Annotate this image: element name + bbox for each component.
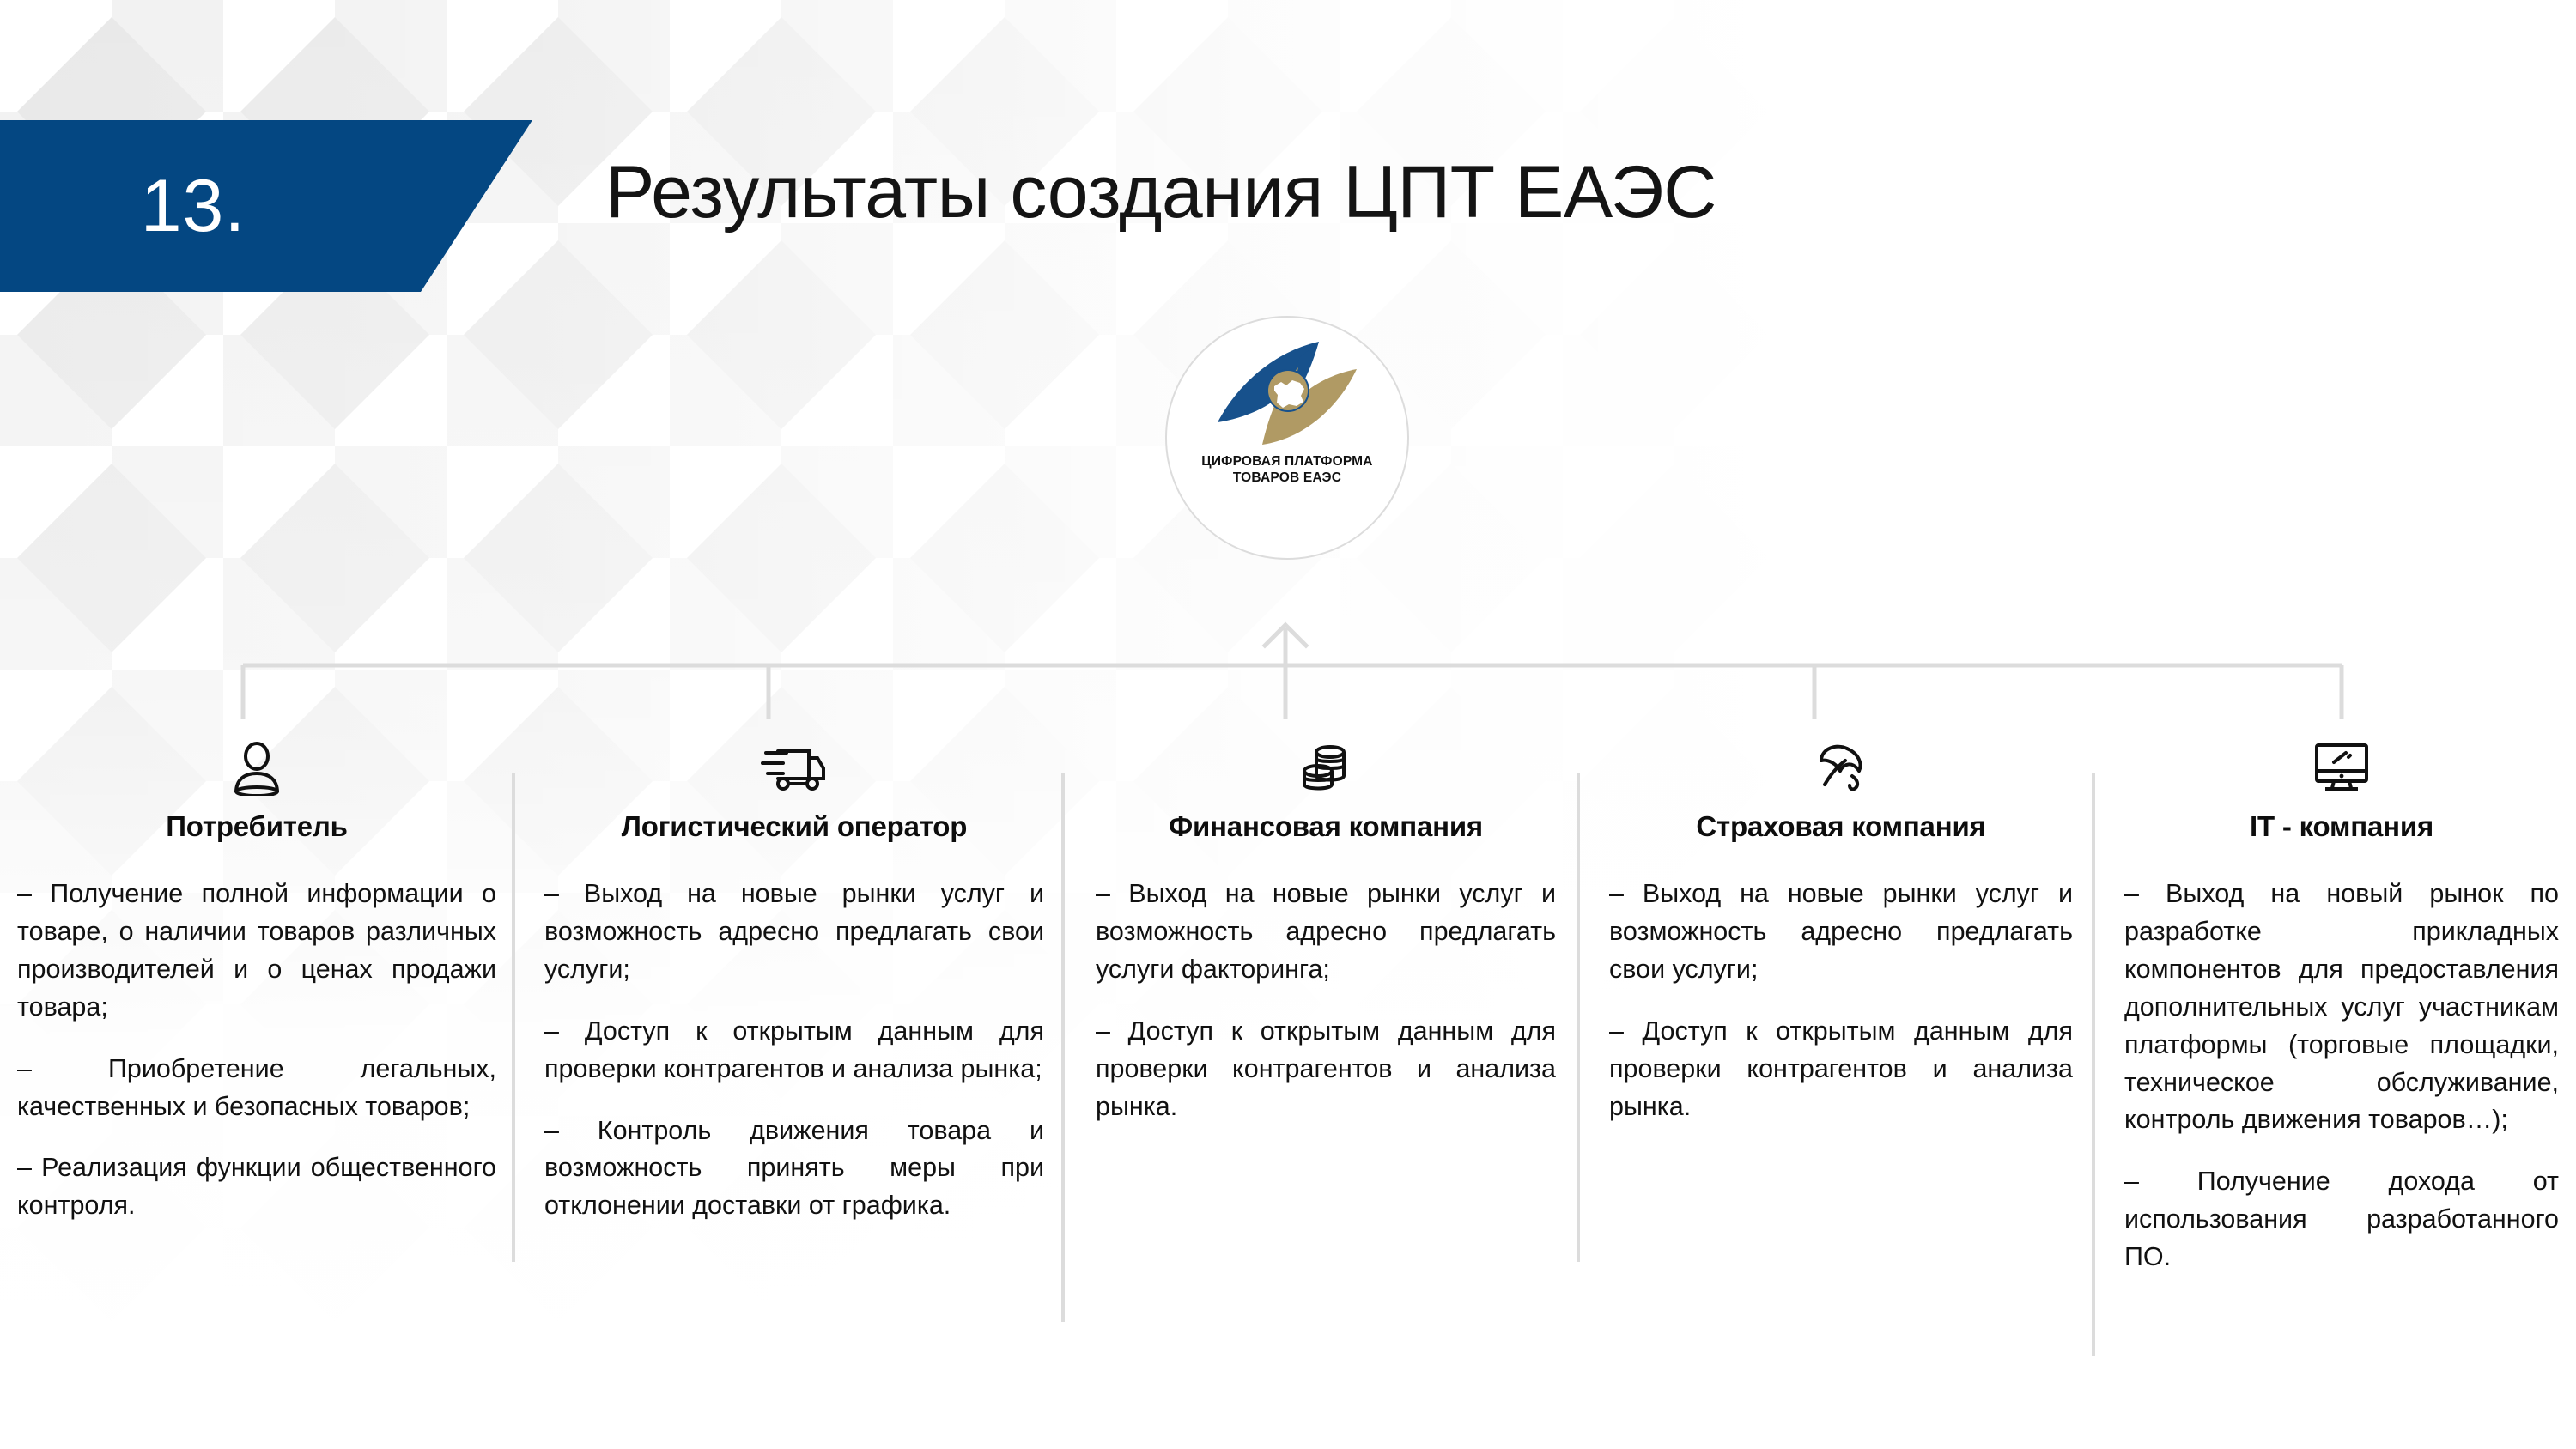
coins-stack-icon: [1096, 738, 1556, 798]
stakeholder-column-it: IT - компания – Выход на новый рынок по …: [2095, 738, 2576, 1449]
column-heading: Страховая компания: [1609, 810, 2073, 843]
slide-number-banner: 13.: [0, 120, 532, 292]
bullet-item: – Доступ к открытым данным для проверки …: [1609, 1013, 2073, 1126]
logo-caption: ЦИФРОВАЯ ПЛАТФОРМА ТОВАРОВ ЕАЭС: [1201, 453, 1372, 487]
stakeholder-column-consumer: Потребитель – Получение полной информаци…: [0, 738, 515, 1449]
stakeholder-column-finance: Финансовая компания – Выход на новые рын…: [1065, 738, 1580, 1449]
platform-logo: ЦИФРОВАЯ ПЛАТФОРМА ТОВАРОВ ЕАЭС: [1165, 316, 1409, 560]
column-heading: Логистический оператор: [544, 810, 1044, 843]
bullet-item: – Доступ к открытым данным для проверки …: [544, 1013, 1044, 1088]
stakeholder-column-insurance: Страховая компания – Выход на новые рынк…: [1580, 738, 2095, 1449]
logo-caption-line-1: ЦИФРОВАЯ ПЛАТФОРМА: [1201, 453, 1372, 470]
logo-caption-line-2: ТОВАРОВ ЕАЭС: [1201, 470, 1372, 486]
desktop-monitor-icon: [2124, 738, 2559, 798]
column-body: – Получение полной информации о товаре, …: [17, 876, 496, 1225]
bullet-item: – Приобретение легальных, качественных и…: [17, 1051, 496, 1126]
bullet-item: – Выход на новые рынки услуг и возможнос…: [1609, 876, 2073, 989]
connector-lines: [0, 549, 2576, 738]
column-body: – Выход на новые рынки услуг и возможнос…: [1609, 876, 2073, 1125]
bullet-item: – Выход на новый рынок по разработке при…: [2124, 876, 2559, 1139]
bullet-item: – Получение полной информации о товаре, …: [17, 876, 496, 1027]
slide-number: 13.: [141, 169, 246, 243]
column-body: – Выход на новый рынок по разработке при…: [2124, 876, 2559, 1276]
bullet-item: – Реализация функции общественного контр…: [17, 1149, 496, 1225]
column-heading: Финансовая компания: [1096, 810, 1556, 843]
column-heading: Потребитель: [17, 810, 496, 843]
delivery-truck-icon: [544, 738, 1044, 798]
bullet-item: – Доступ к открытым данным для проверки …: [1096, 1013, 1556, 1126]
column-heading: IT - компания: [2124, 810, 2559, 843]
bullet-item: – Контроль движения товара и возможность…: [544, 1113, 1044, 1226]
stakeholder-columns: Потребитель – Получение полной информаци…: [0, 738, 2576, 1449]
column-body: – Выход на новые рынки услуг и возможнос…: [1096, 876, 1556, 1125]
umbrella-icon: [1609, 738, 2073, 798]
bullet-item: – Получение дохода от использования разр…: [2124, 1163, 2559, 1276]
user-icon: [17, 738, 496, 798]
eaeu-emblem-icon: [1211, 336, 1364, 450]
stakeholder-column-logistics: Логистический оператор – Выход на новые …: [515, 738, 1065, 1449]
column-body: – Выход на новые рынки услуг и возможнос…: [544, 876, 1044, 1225]
bullet-item: – Выход на новые рынки услуг и возможнос…: [1096, 876, 1556, 989]
page-title: Результаты создания ЦПТ ЕАЭС: [605, 150, 1716, 235]
bullet-item: – Выход на новые рынки услуг и возможнос…: [544, 876, 1044, 989]
